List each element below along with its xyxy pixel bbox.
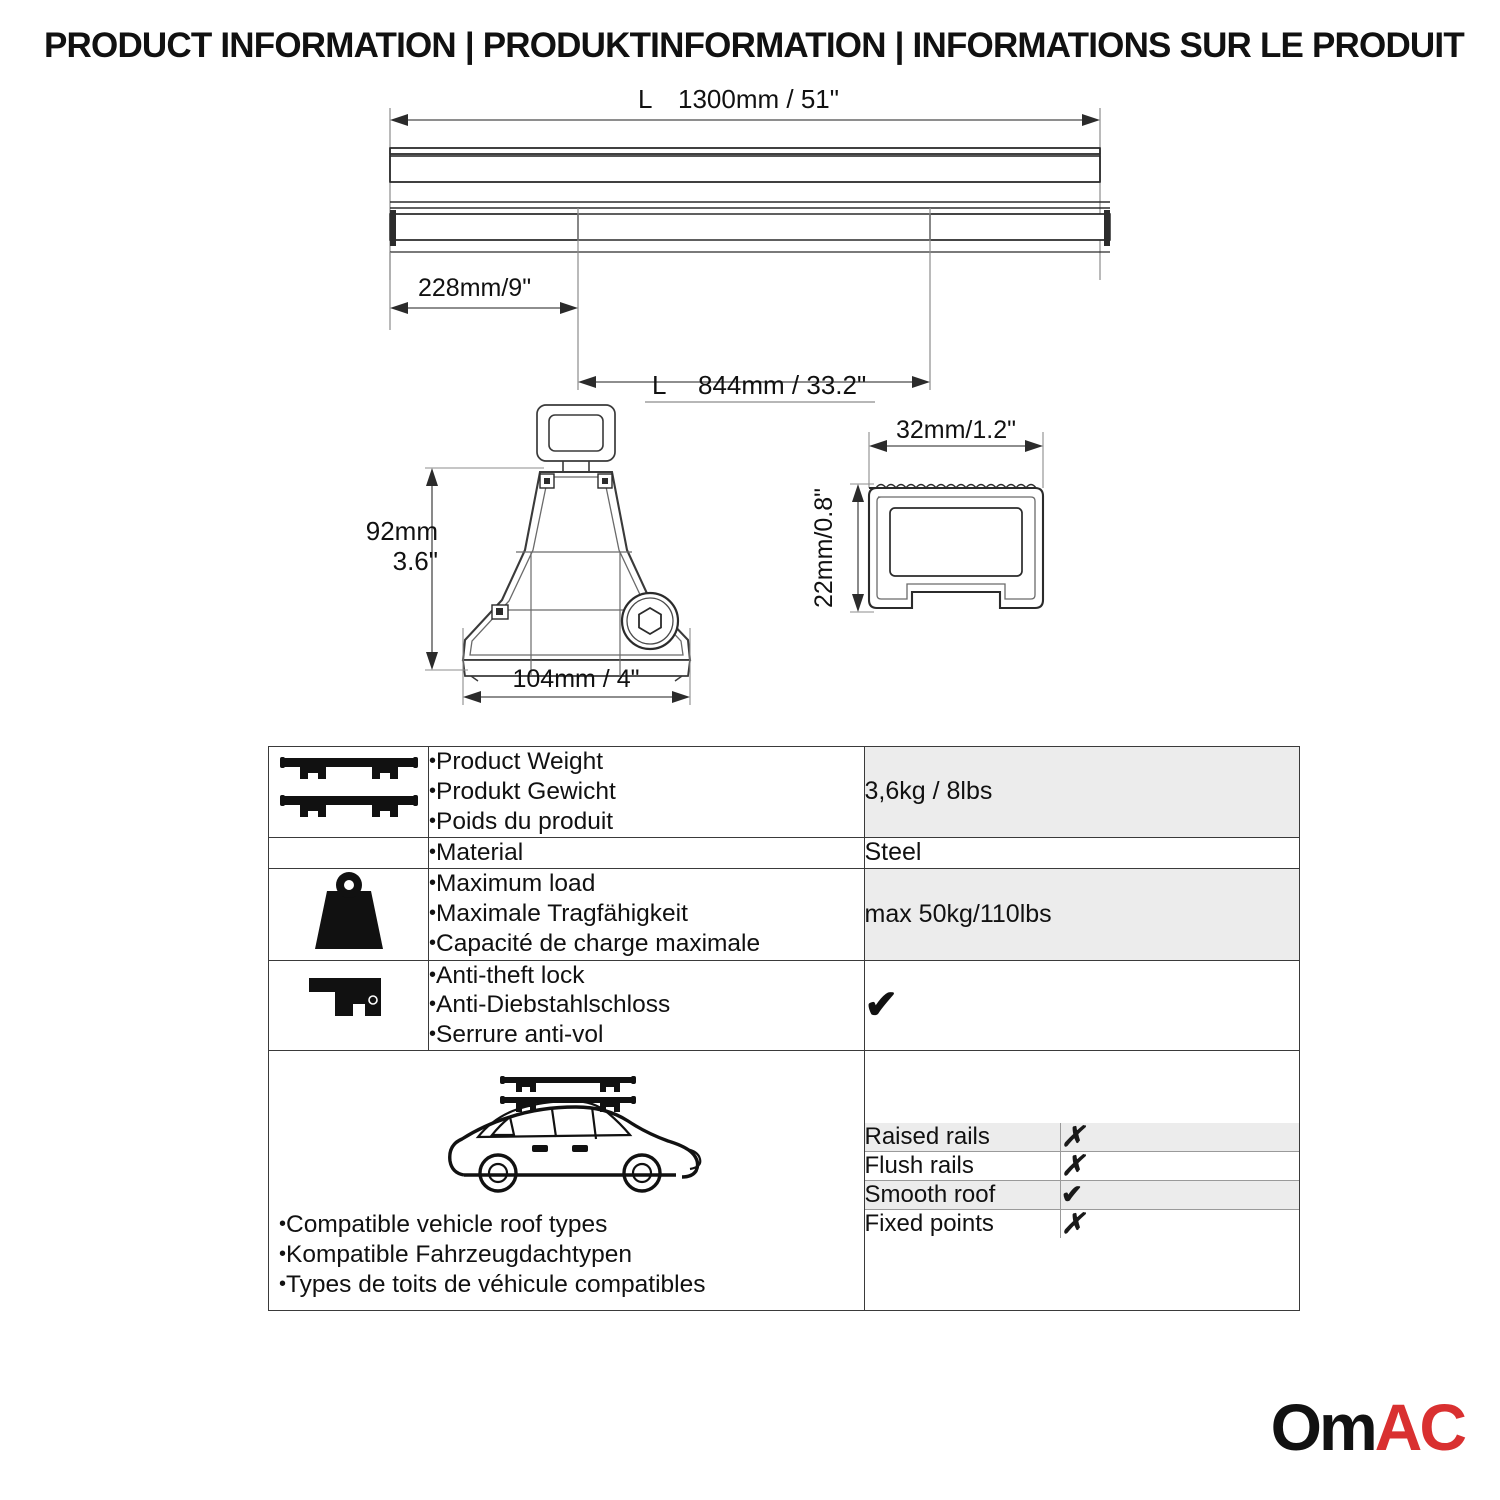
product-weight-value-cell: 3,6kg / 8lbs	[864, 747, 1300, 838]
product-weight-value: 3,6kg / 8lbs	[865, 777, 993, 805]
list-item: Flush rails ✗	[865, 1151, 1300, 1180]
status-badge-cross: ✗	[1061, 1150, 1084, 1181]
anti-theft-value-cell: ✔	[864, 960, 1300, 1051]
foot-height-line1: 92mm	[366, 516, 438, 546]
label-line: •Compatible vehicle roof types	[279, 1210, 864, 1240]
weight-icon	[305, 869, 393, 955]
roof-option-label: Flush rails	[865, 1151, 1061, 1180]
car-with-rack-icon	[406, 1063, 736, 1199]
compat-icon-wrap	[279, 1063, 864, 1210]
status-badge-check: ✔	[1061, 1179, 1083, 1209]
material-labels-cell: •Material	[429, 837, 865, 868]
roof-option-mark-cell: ✔	[1061, 1180, 1300, 1209]
foot-offset-value: 228mm/9"	[418, 274, 531, 302]
label-line: •Maximale Tragfähigkeit	[429, 899, 864, 929]
label-line: •Material	[429, 838, 864, 868]
label-line: •Serrure anti-vol	[429, 1020, 864, 1050]
bar-length-value: 1300mm / 51"	[678, 84, 839, 114]
roof-option-label: Fixed points	[865, 1209, 1061, 1238]
material-icon-cell	[269, 837, 429, 868]
label-line: •Kompatible Fahrzeugdachtypen	[279, 1240, 864, 1270]
crossbars-icon	[274, 750, 424, 828]
compat-block: •Compatible vehicle roof types •Kompatib…	[269, 1051, 864, 1310]
table-row: •Maximum load •Maximale Tragfähigkeit •C…	[269, 868, 1300, 960]
drawings-svg: L 1300mm / 51" 228mm/9" L 844mm / 33.2" …	[0, 80, 1500, 740]
material-value: Steel	[865, 838, 922, 866]
label-line: •Product Weight	[429, 747, 864, 777]
list-item: Fixed points ✗	[865, 1209, 1300, 1238]
logo-dark-text: Om	[1271, 1390, 1375, 1464]
label-line: •Capacité de charge maximale	[429, 929, 864, 959]
table-row: •Anti-theft lock •Anti-Diebstahlschloss …	[269, 960, 1300, 1051]
roof-compat-cell: •Compatible vehicle roof types •Kompatib…	[269, 1051, 865, 1311]
status-badge-cross: ✗	[1061, 1208, 1084, 1239]
roof-options-table: Raised rails ✗ Flush rails ✗ Smooth roof	[865, 1123, 1300, 1238]
roof-options-cell: Raised rails ✗ Flush rails ✗ Smooth roof	[864, 1051, 1300, 1311]
anti-theft-icon-cell	[269, 960, 429, 1051]
label-line: •Produkt Gewicht	[429, 777, 864, 807]
roof-option-mark-cell: ✗	[1061, 1209, 1300, 1238]
product-weight-labels-cell: •Product Weight •Produkt Gewicht •Poids …	[429, 747, 865, 838]
technical-drawings: L 1300mm / 51" 228mm/9" L 844mm / 33.2" …	[0, 80, 1500, 740]
roof-compat-labels: •Compatible vehicle roof types •Kompatib…	[279, 1210, 864, 1300]
max-load-icon-cell	[269, 868, 429, 960]
material-value-cell: Steel	[864, 837, 1300, 868]
material-labels: •Material	[429, 838, 864, 868]
max-load-value-cell: max 50kg/110lbs	[864, 868, 1300, 960]
anti-theft-labels: •Anti-theft lock •Anti-Diebstahlschloss …	[429, 961, 864, 1051]
label-line: •Maximum load	[429, 869, 864, 899]
profile-height-value: 22mm/0.8"	[810, 488, 838, 608]
spread-value: 844mm / 33.2"	[698, 370, 866, 400]
max-load-labels: •Maximum load •Maximale Tragfähigkeit •C…	[429, 869, 864, 959]
label-line: •Types de toits de véhicule compatibles	[279, 1270, 864, 1300]
list-item: Smooth roof ✔	[865, 1180, 1300, 1209]
page-title: PRODUCT INFORMATION | PRODUKTINFORMATION…	[44, 26, 1464, 66]
max-load-labels-cell: •Maximum load •Maximale Tragfähigkeit •C…	[429, 868, 865, 960]
roof-option-label: Raised rails	[865, 1123, 1061, 1152]
status-badge-cross: ✗	[1061, 1121, 1084, 1152]
foot-height-line2: 3.6"	[393, 546, 438, 576]
specifications-table: •Product Weight •Produkt Gewicht •Poids …	[268, 746, 1300, 1311]
product-weight-icon-cell	[269, 747, 429, 838]
profile-width-value: 32mm/1.2"	[896, 416, 1016, 444]
max-load-value: max 50kg/110lbs	[865, 900, 1052, 928]
roof-option-mark-cell: ✗	[1061, 1151, 1300, 1180]
logo-red-text: AC	[1375, 1390, 1464, 1464]
product-information-sheet: PRODUCT INFORMATION | PRODUKTINFORMATION…	[0, 0, 1500, 1500]
lock-icon	[301, 968, 397, 1038]
spread-prefix: L	[652, 370, 666, 400]
label-line: •Anti-theft lock	[429, 961, 864, 991]
omac-logo: OmAC	[1271, 1394, 1464, 1460]
anti-theft-labels-cell: •Anti-theft lock •Anti-Diebstahlschloss …	[429, 960, 865, 1051]
table-row-roof-types: •Compatible vehicle roof types •Kompatib…	[269, 1051, 1300, 1311]
label-line: •Poids du produit	[429, 807, 864, 837]
status-badge-check: ✔	[865, 983, 899, 1027]
product-weight-labels: •Product Weight •Produkt Gewicht •Poids …	[429, 747, 864, 837]
list-item: Raised rails ✗	[865, 1123, 1300, 1152]
roof-option-mark-cell: ✗	[1061, 1123, 1300, 1152]
foot-width-value: 104mm / 4"	[513, 665, 640, 693]
table-row: •Product Weight •Produkt Gewicht •Poids …	[269, 747, 1300, 838]
bar-length-prefix: L	[638, 84, 652, 114]
table-row: •Material Steel	[269, 837, 1300, 868]
label-line: •Anti-Diebstahlschloss	[429, 990, 864, 1020]
roof-option-label: Smooth roof	[865, 1180, 1061, 1209]
